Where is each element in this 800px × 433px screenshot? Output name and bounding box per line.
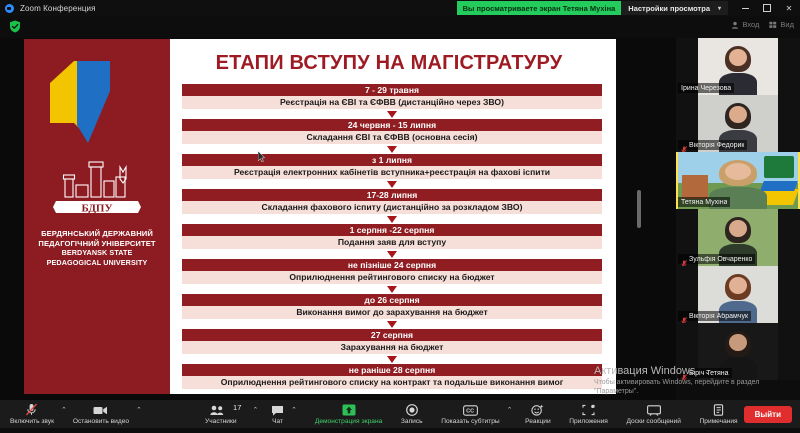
admission-step: 27 серпняЗарахування на бюджет xyxy=(182,329,602,354)
close-button[interactable]: ✕ xyxy=(778,0,800,16)
toolbar-participants-button[interactable]: Участники 17 xyxy=(199,400,243,428)
step-description: Зарахування на бюджет xyxy=(182,341,602,354)
toolbar-notes-label: Примечания xyxy=(700,418,738,425)
step-date: не раніше 28 серпня xyxy=(182,364,602,376)
top-right-controls: Вход Вид xyxy=(731,20,794,29)
participant-gallery-strip[interactable]: Ірина ЧерезоваВікторія ФедорикТетяна Мух… xyxy=(676,38,800,400)
step-date: до 26 серпня xyxy=(182,294,602,306)
participant-tile[interactable]: Тетяна Мухіна xyxy=(676,152,800,209)
login-label: Вход xyxy=(742,20,759,29)
chevron-down-icon: ⌄ xyxy=(704,367,711,376)
video-options-caret[interactable]: ⌃ xyxy=(136,396,142,433)
view-button[interactable]: Вид xyxy=(769,20,794,29)
zoom-meeting-window: Zoom Конференция Вы просматриваете экран… xyxy=(0,0,800,428)
admission-step: не раніше 28 серпняОприлюднення рейтинго… xyxy=(182,364,602,389)
captions-options-caret[interactable]: ⌃ xyxy=(507,396,513,433)
view-label: Вид xyxy=(780,20,794,29)
participants-options-caret[interactable]: ⌃ xyxy=(253,396,259,433)
participant-tile[interactable]: Вікторія Федорик xyxy=(676,95,800,152)
stage-scrollbar[interactable] xyxy=(637,190,641,228)
university-name-line4: PEDAGOGICAL UNIVERSITY xyxy=(28,258,166,268)
view-options-button[interactable]: Настройки просмотра ▾ xyxy=(621,1,728,15)
shared-screen-stage[interactable]: БДПУ БЕРДЯНСЬКИЙ ДЕРЖАВНИЙ ПЕДАГОГІЧНИЙ … xyxy=(0,38,676,400)
participant-tile[interactable]: Ірина Черезова xyxy=(676,38,800,95)
toolbar-whiteboards-label: Доски сообщений xyxy=(627,418,681,425)
step-arrow-icon xyxy=(182,214,602,224)
step-arrow-icon xyxy=(182,249,602,259)
step-arrow-icon xyxy=(182,319,602,329)
toolbar-apps-label: Приложения xyxy=(569,418,608,425)
admission-step: 7 - 29 травняРеєстрація на ЄВІ та ЄФВВ (… xyxy=(182,84,602,109)
encryption-shield-icon[interactable] xyxy=(9,20,21,33)
participant-name-bar: Тетяна Мухіна xyxy=(678,197,730,207)
step-arrow-icon xyxy=(182,354,602,364)
toolbar-chat-label: Чат xyxy=(272,418,283,425)
participant-name: Вікторія Абрамчук xyxy=(689,313,748,320)
user-icon xyxy=(731,21,739,29)
university-name-line3: BERDYANSK STATE xyxy=(28,248,166,258)
screen-share-banner: Вы просматриваете экран Тетяна Мухіна xyxy=(457,1,622,15)
microphone-muted-icon xyxy=(681,255,687,263)
chat-options-caret[interactable]: ⌃ xyxy=(291,396,297,433)
toolbar-unmute-button[interactable]: Включить звук xyxy=(4,400,60,428)
slide-content: ЕТАПИ ВСТУПУ НА МАГІСТРАТУРУ 7 - 29 трав… xyxy=(170,39,616,394)
apps-icon xyxy=(582,403,595,416)
admission-step: 1 серпня -22 серпняПодання заяв для всту… xyxy=(182,224,602,249)
toolbar-record-button[interactable]: Запись xyxy=(395,400,429,428)
toolbar-notes-button[interactable]: Примечания xyxy=(694,400,744,428)
toolbar-reactions-button[interactable]: Реакции xyxy=(519,400,556,428)
toolbar-captions-button[interactable]: CC Показать субтитры xyxy=(435,400,505,428)
toolbar-captions-label: Показать субтитры xyxy=(441,418,499,425)
toolbar-unmute-label: Включить звук xyxy=(10,418,54,425)
meeting-top-strip: Вход Вид xyxy=(0,16,800,38)
step-description: Реєстрація електронних кабінетів вступни… xyxy=(182,166,602,179)
window-controls: ✕ xyxy=(734,0,800,16)
step-arrow-icon xyxy=(182,109,602,119)
toolbar-stop-video-label: Остановить видео xyxy=(73,418,129,425)
step-date: не пізніше 24 серпня xyxy=(182,259,602,271)
leave-meeting-button[interactable]: Выйти xyxy=(744,406,792,423)
reactions-icon xyxy=(531,403,544,416)
view-options-label: Настройки просмотра xyxy=(628,4,710,13)
closed-captions-icon: CC xyxy=(463,403,478,416)
record-icon xyxy=(406,403,418,416)
toolbar-apps-button[interactable]: Приложения xyxy=(563,400,614,428)
participant-tile[interactable]: Вікторія Абрамчук xyxy=(676,266,800,323)
maximize-button[interactable] xyxy=(756,0,778,16)
step-arrow-icon xyxy=(182,284,602,294)
participants-icon xyxy=(210,403,232,416)
participant-name-bar: Зульфія Овчаренко xyxy=(678,254,755,264)
screen-share-banner-text: Вы просматриваете экран Тетяна Мухіна xyxy=(463,4,616,13)
participant-name: Зульфія Овчаренко xyxy=(689,256,752,263)
participant-name: Тетяна Мухіна xyxy=(681,199,727,206)
toolbar-record-label: Запись xyxy=(401,418,423,425)
toolbar-reactions-label: Реакции xyxy=(525,418,550,425)
chevron-down-icon: ▾ xyxy=(718,5,721,12)
participant-name-bar: Вікторія Абрамчук xyxy=(678,311,751,321)
maximize-icon xyxy=(763,4,771,12)
slide-title: ЕТАПИ ВСТУПУ НА МАГІСТРАТУРУ xyxy=(170,52,608,75)
mouse-cursor-icon xyxy=(258,151,265,162)
window-title-bar: Zoom Конференция Вы просматриваете экран… xyxy=(0,0,800,16)
step-description: Подання заяв для вступу xyxy=(182,236,602,249)
svg-text:CC: CC xyxy=(466,409,474,415)
window-title: Zoom Конференция xyxy=(20,4,96,13)
step-date: з 1 липня xyxy=(182,154,602,166)
microphone-muted-icon xyxy=(25,403,38,416)
step-description: Оприлюднення рейтингового списку на конт… xyxy=(182,376,602,389)
toolbar-chat-button[interactable]: Чат xyxy=(265,400,290,428)
login-button[interactable]: Вход xyxy=(731,20,759,29)
university-name-line2: ПЕДАГОГІЧНИЙ УНІВЕРСИТЕТ xyxy=(28,239,166,249)
step-description: Складання ЄВІ та ЄФВВ (основна сесія) xyxy=(182,131,602,144)
admission-step: з 1 липняРеєстрація електронних кабінеті… xyxy=(182,154,602,179)
watermark-title: Активация Windows xyxy=(594,365,794,377)
notes-icon xyxy=(713,403,724,416)
participant-tile[interactable]: Зульфія Овчаренко xyxy=(676,209,800,266)
admission-steps-flow: 7 - 29 травняРеєстрація на ЄВІ та ЄФВВ (… xyxy=(182,84,602,389)
university-crest-icon: БДПУ xyxy=(52,157,142,223)
step-description: Виконання вимог до зарахування на бюджет xyxy=(182,306,602,319)
step-description: Реєстрація на ЄВІ та ЄФВВ (дистанційно ч… xyxy=(182,96,602,109)
admission-step: не пізніше 24 серпняОприлюднення рейтинг… xyxy=(182,259,602,284)
step-date: 1 серпня -22 серпня xyxy=(182,224,602,236)
whiteboard-icon xyxy=(647,403,661,416)
step-date: 27 серпня xyxy=(182,329,602,341)
windows-activation-watermark: Активация Windows ⌄ Чтобы активировать W… xyxy=(594,365,794,396)
toolbar-share-screen-button[interactable]: Демонстрация экрана xyxy=(309,400,388,428)
camera-icon xyxy=(93,403,108,416)
admission-step: 24 червня - 15 липняСкладання ЄВІ та ЄФВ… xyxy=(182,119,602,144)
microphone-muted-icon xyxy=(681,312,687,320)
leave-meeting-label: Выйти xyxy=(755,410,781,419)
share-screen-icon xyxy=(342,403,356,416)
presentation-slide: БДПУ БЕРДЯНСЬКИЙ ДЕРЖАВНИЙ ПЕДАГОГІЧНИЙ … xyxy=(24,39,616,394)
university-branding-band: БДПУ БЕРДЯНСЬКИЙ ДЕРЖАВНИЙ ПЕДАГОГІЧНИЙ … xyxy=(24,39,170,394)
toolbar-whiteboards-button[interactable]: Доски сообщений xyxy=(621,400,687,428)
participant-name: Вікторія Федорик xyxy=(689,142,744,149)
participants-count: 17 xyxy=(233,403,241,412)
minimize-button[interactable] xyxy=(734,0,756,16)
step-date: 17-28 липня xyxy=(182,189,602,201)
university-name-line1: БЕРДЯНСЬКИЙ ДЕРЖАВНИЙ xyxy=(28,229,166,239)
step-description: Оприлюднення рейтингового списку на бюдж… xyxy=(182,271,602,284)
svg-text:БДПУ: БДПУ xyxy=(81,203,112,215)
ukraine-flag-shape xyxy=(44,61,139,146)
participant-name: Ірина Черезова xyxy=(681,85,731,92)
step-description: Складання фахового іспиту (дистанційно з… xyxy=(182,201,602,214)
watermark-subtitle: Чтобы активировать Windows, перейдите в … xyxy=(594,378,794,396)
toolbar-share-screen-label: Демонстрация экрана xyxy=(315,418,382,425)
zoom-logo-icon xyxy=(5,4,14,13)
step-date: 7 - 29 травня xyxy=(182,84,602,96)
participant-name-bar: Ірина Черезова xyxy=(678,83,734,93)
admission-step: 17-28 липняСкладання фахового іспиту (ди… xyxy=(182,189,602,214)
participant-name-bar: Вікторія Федорик xyxy=(678,140,747,150)
chat-icon xyxy=(271,403,284,416)
toolbar-participants-label: Участники xyxy=(205,418,237,425)
minimize-icon xyxy=(742,8,749,9)
admission-step: до 26 серпняВиконання вимог до зарахуван… xyxy=(182,294,602,319)
toolbar-stop-video-button[interactable]: Остановить видео xyxy=(67,400,135,428)
university-name: БЕРДЯНСЬКИЙ ДЕРЖАВНИЙ ПЕДАГОГІЧНИЙ УНІВЕ… xyxy=(28,229,166,267)
step-arrow-icon xyxy=(182,144,602,154)
step-arrow-icon xyxy=(182,179,602,189)
step-date: 24 червня - 15 липня xyxy=(182,119,602,131)
grid-view-icon xyxy=(769,21,777,29)
close-icon: ✕ xyxy=(786,4,793,13)
microphone-muted-icon xyxy=(681,141,687,149)
meeting-toolbar: Включить звук ⌃ Остановить видео ⌃ Участ… xyxy=(0,400,800,428)
